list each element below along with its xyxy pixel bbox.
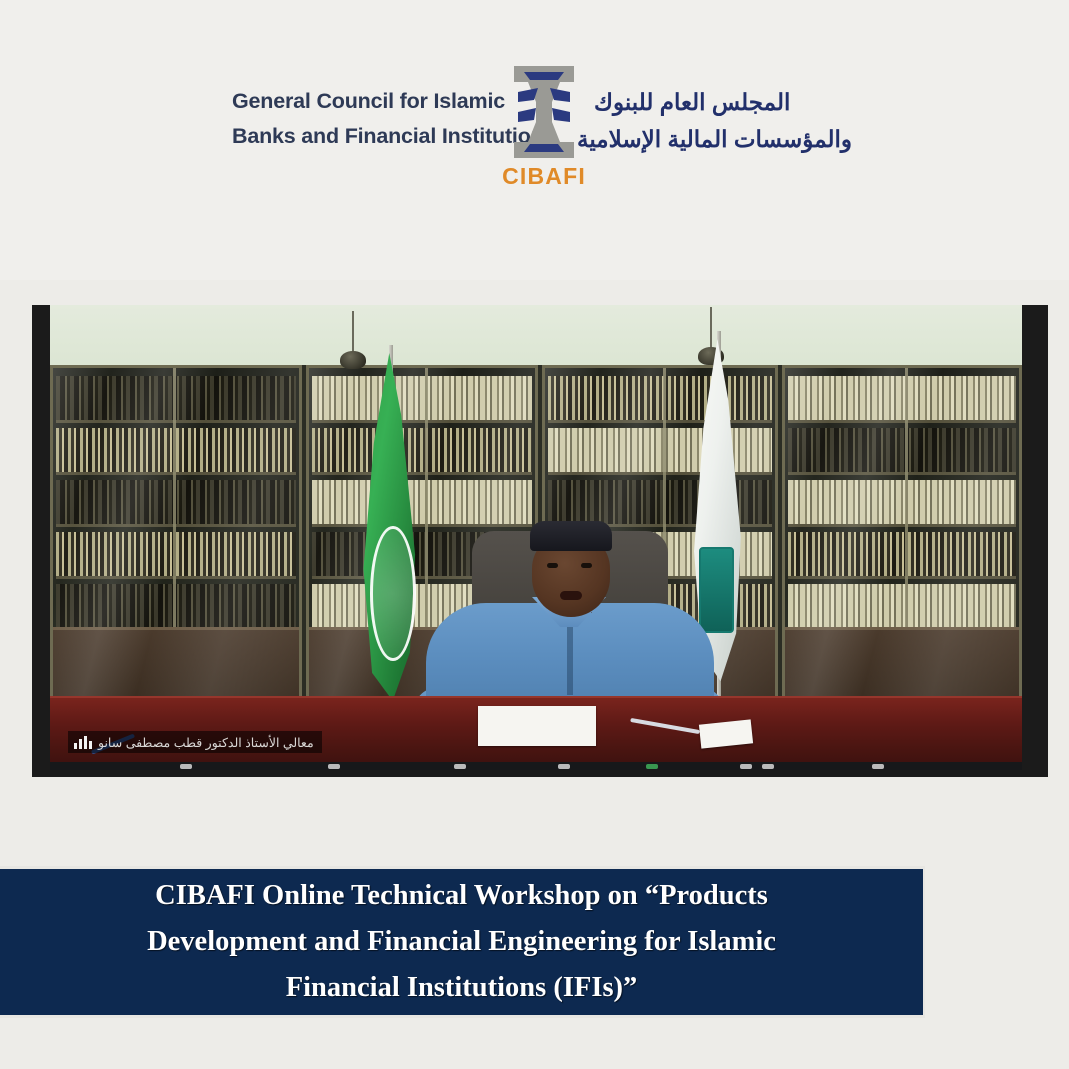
hourglass-emblem-icon — [504, 62, 584, 162]
decorative-urn — [90, 323, 124, 369]
organization-name-arabic-line1: المجلس العام للبنوك — [594, 84, 852, 121]
toolbar-control-2[interactable] — [328, 764, 340, 769]
organization-name-arabic: المجلس العام للبنوك والمؤسسات المالية ال… — [594, 62, 852, 159]
toolbar-control-3[interactable] — [454, 764, 466, 769]
header-logo-area: General Council for Islamic Banks and Fi… — [0, 0, 1069, 280]
organization-name-english-line2: Banks and Financial Institutions — [232, 119, 494, 154]
cibafi-logo-lockup: General Council for Islamic Banks and Fi… — [232, 62, 852, 192]
organization-name-english: General Council for Islamic Banks and Fi… — [232, 62, 494, 154]
toolbar-control-4[interactable] — [558, 764, 570, 769]
toolbar-control-5[interactable] — [740, 764, 752, 769]
video-controls-bar[interactable] — [50, 762, 1022, 770]
speaker-mouth — [560, 591, 582, 600]
workshop-title-banner: CIBAFI Online Technical Workshop on “Pro… — [0, 866, 925, 1018]
workshop-title-text: CIBAFI Online Technical Workshop on “Pro… — [82, 873, 842, 1011]
video-frame: معالي الأستاذ الدكتور قطب مصطفى سانو — [50, 305, 1022, 770]
toolbar-control-7[interactable] — [872, 764, 884, 769]
caption-speaker-name: معالي الأستاذ الدكتور قطب مصطفى سانو — [98, 735, 314, 750]
speaker-eye-left — [547, 563, 558, 568]
desk-paper-right — [699, 719, 753, 748]
desk-pen-right — [630, 718, 700, 734]
audio-level-bars-icon — [74, 736, 92, 749]
speaker-cap — [530, 521, 612, 551]
organization-name-arabic-line2: والمؤسسات المالية الإسلامية — [594, 121, 852, 158]
organization-name-english-line1: General Council for Islamic — [232, 84, 494, 119]
cibafi-logo-mark: CIBAFI — [502, 62, 586, 190]
toolbar-control-1[interactable] — [180, 764, 192, 769]
desk-paper-center — [478, 706, 596, 746]
cibafi-wordmark: CIBAFI — [502, 163, 586, 190]
speaker-eye-right — [581, 563, 592, 568]
toolbar-control-share[interactable] — [646, 764, 658, 769]
workshop-title-line2: Development and Financial Engineering fo… — [82, 919, 842, 965]
toolbar-control-6[interactable] — [762, 764, 774, 769]
speaker-name-caption: معالي الأستاذ الدكتور قطب مصطفى سانو — [68, 731, 322, 753]
workshop-title-line3: Financial Institutions (IFIs)” — [82, 965, 842, 1011]
workshop-title-line1: CIBAFI Online Technical Workshop on “Pro… — [82, 873, 842, 919]
bookcase-left — [50, 365, 302, 705]
video-player[interactable]: معالي الأستاذ الدكتور قطب مصطفى سانو — [32, 305, 1048, 777]
bookcase-right — [782, 365, 1022, 705]
